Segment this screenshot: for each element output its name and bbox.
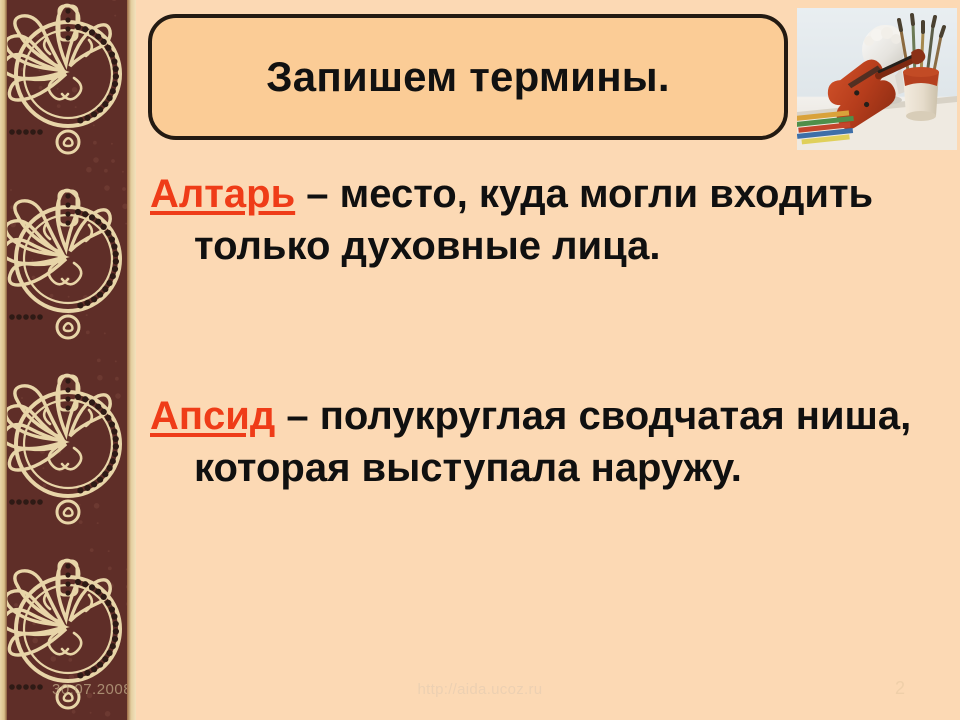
ornament-edge-right	[127, 0, 136, 720]
ornament-motif	[0, 0, 136, 167]
definition-item: Алтарь – место, куда могли входить тольк…	[150, 168, 940, 272]
definition-item: Апсид – полукруглая сводчатая ниша, кото…	[150, 390, 940, 494]
ornamental-border	[0, 0, 136, 720]
page-title: Запишем термины.	[266, 53, 669, 101]
definitions-block: Алтарь – место, куда могли входить тольк…	[150, 168, 940, 494]
title-box: Запишем термины.	[148, 14, 788, 140]
presentation-slide: Запишем термины.	[0, 0, 960, 720]
term-label: Апсид	[150, 394, 275, 438]
ornament-motif	[0, 352, 136, 537]
ornament-edge-left	[0, 0, 7, 720]
term-dash: –	[295, 172, 339, 216]
page-number: 2	[880, 678, 920, 699]
term-label: Алтарь	[150, 172, 295, 216]
ornament-motif	[0, 167, 136, 352]
footer-url: http://aida.ucoz.ru	[0, 681, 960, 698]
term-dash: –	[275, 394, 319, 438]
art-supplies-photo	[797, 8, 957, 150]
